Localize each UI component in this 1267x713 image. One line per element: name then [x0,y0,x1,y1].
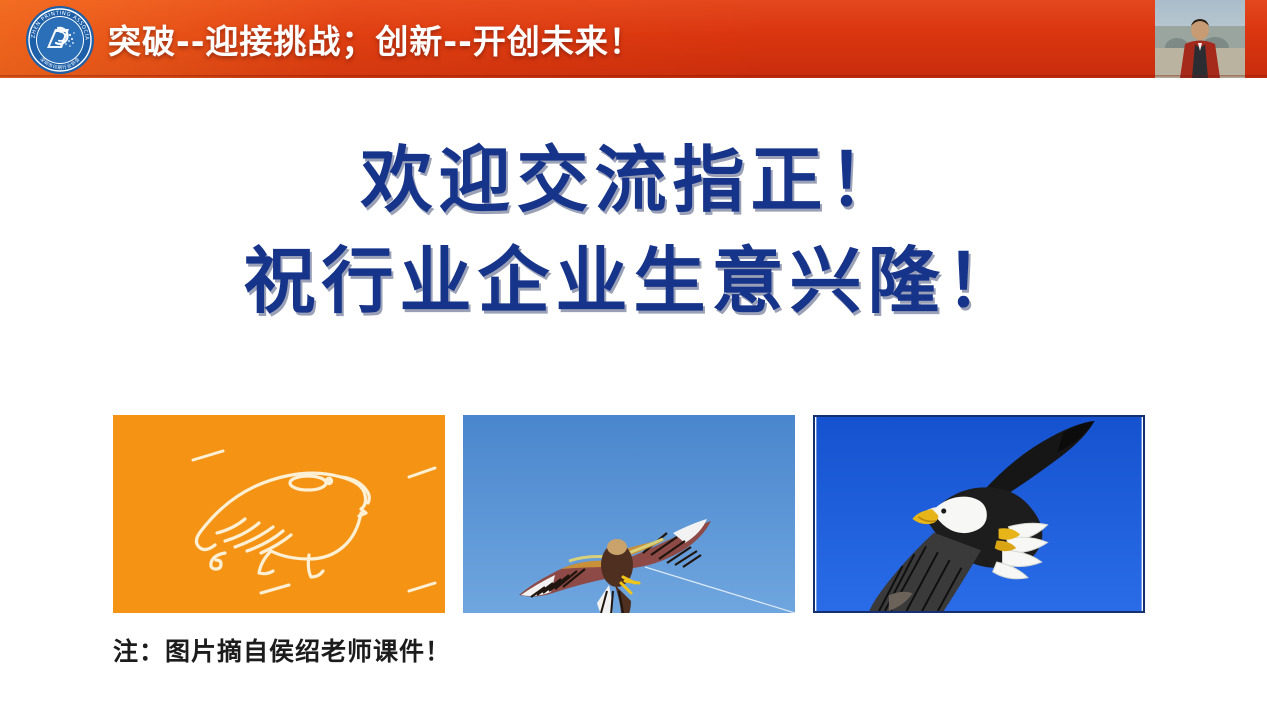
slide-header-banner: SHENZHEN PRINTING ASSOCIATION 深圳市印刷行业协会 [0,0,1267,78]
title-line-1: 欢迎交流指正！ [0,140,1267,221]
header-title: 突破--迎接挑战；创新--开创未来！ [108,15,643,63]
image-row [113,415,1145,613]
title-line-2: 祝行业企业生意兴隆！ [0,241,1267,322]
eagle-kite-photo-icon [463,415,795,613]
main-title-block: 欢迎交流指正！ 祝行业企业生意兴隆！ [0,140,1267,321]
presentation-slide: SHENZHEN PRINTING ASSOCIATION 深圳市印刷行业协会 [0,0,1267,713]
association-logo: SHENZHEN PRINTING ASSOCIATION 深圳市印刷行业协会 [24,4,96,76]
shenzhen-printing-association-seal-icon: SHENZHEN PRINTING ASSOCIATION 深圳市印刷行业协会 [24,4,96,76]
eagle-kite-photo [463,415,795,613]
presenter-video-thumbnail-icon [1155,0,1245,78]
image-source-caption: 注：图片摘自侯绍老师课件！ [113,632,451,668]
bald-eagle-photo-icon [815,417,1143,611]
presenter-video-thumbnail[interactable] [1155,0,1245,78]
bald-eagle-photo [813,415,1145,613]
flying-pig-illustration [113,415,445,613]
flying-pig-line-drawing-icon [113,415,445,613]
